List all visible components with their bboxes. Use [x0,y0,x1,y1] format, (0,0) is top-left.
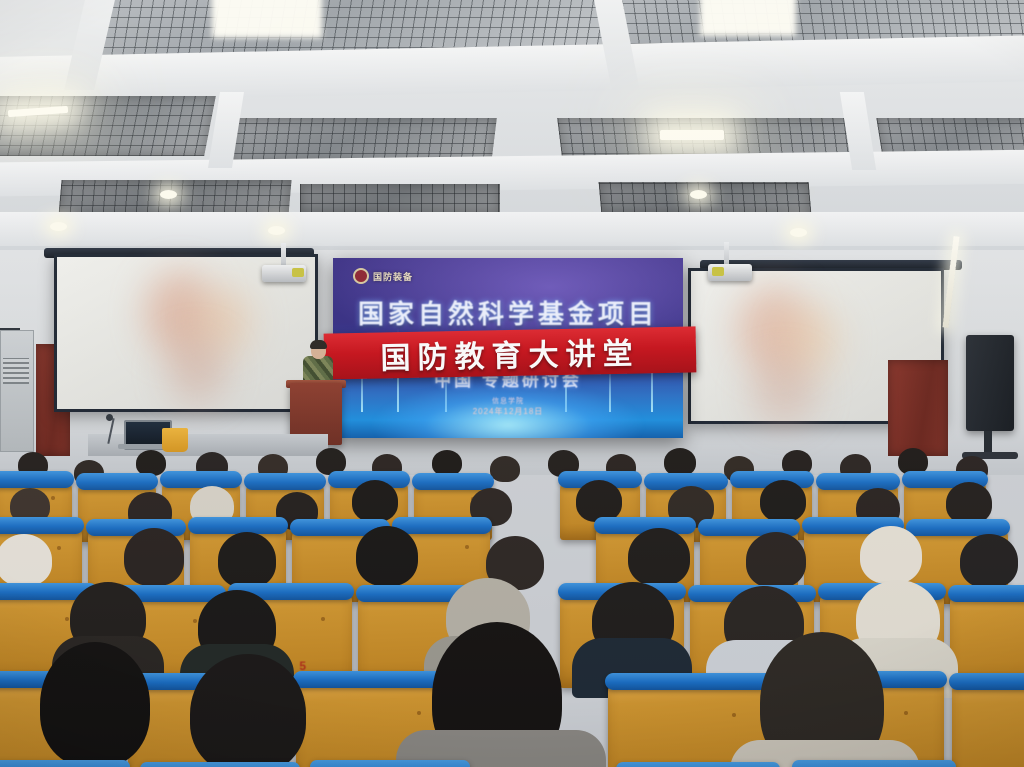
audience-head [960,534,1018,588]
ceiling-downlight [160,190,177,199]
led-org-line: 信息学院 [333,396,683,406]
projector-lens-left [292,268,304,277]
ceiling-downlight [790,228,807,237]
auditorium-seat[interactable]: 9 - 3 [952,682,1024,767]
audience-head [576,480,622,522]
led-main-title: 国家自然科学基金项目 [333,294,683,331]
led-date-line: 2024年12月18日 [333,406,683,417]
ceiling-grille-panel [0,96,216,156]
ceiling-downlight [268,226,285,235]
ceiling-downlight [50,222,67,231]
ceiling-beam [0,212,1024,246]
microphone-head-icon [106,414,113,421]
led-organization-logo: 国防装备 [353,268,413,284]
auditorium-photo: 国防装备 国家自然科学基金项目 中国 专题研讨会 信息学院 2024年12月18… [0,0,1024,767]
seat-cushion[interactable] [616,762,780,767]
seat-cushion[interactable] [792,760,956,767]
ceiling-light [660,130,724,140]
audience-head [124,528,184,586]
projector-mount-left [281,243,286,266]
speaker-hair [310,340,327,349]
ceiling-grille-panel [599,182,812,214]
ceiling [0,0,1024,268]
audience-head [40,642,150,767]
seat-cushion[interactable] [140,762,300,767]
audience-head [760,480,806,522]
seating-area: 7 - 9 [0,430,1024,767]
red-banner-text: 国防教育大讲堂 [380,329,640,378]
seat-cushion[interactable] [310,760,470,767]
audience-head [946,482,992,524]
audience-head [352,480,398,522]
audience-head [490,456,520,482]
audience-head [664,448,696,476]
audience-head [190,654,306,767]
red-banner: 国防教育大讲堂 [324,326,697,379]
audience-head [628,528,690,586]
projector-mount-right [724,242,729,264]
audience-head [218,532,276,588]
seat-cushion[interactable] [0,760,130,767]
audience-head [746,532,806,588]
audience-head [0,534,52,586]
projector-lens-right [712,267,724,276]
audience-head [356,526,418,586]
ceiling-skylight [700,0,796,36]
ceiling-grille-panel [300,184,500,214]
air-conditioner-vent [3,358,29,384]
ceiling-downlight [690,190,707,199]
ceiling-skylight [212,0,322,38]
ceiling-grille-panel [58,180,291,216]
logo-text: 国防装备 [373,270,413,283]
logo-mark-icon [353,268,369,284]
audience-head [860,526,922,584]
floor-loudspeaker [966,335,1014,431]
